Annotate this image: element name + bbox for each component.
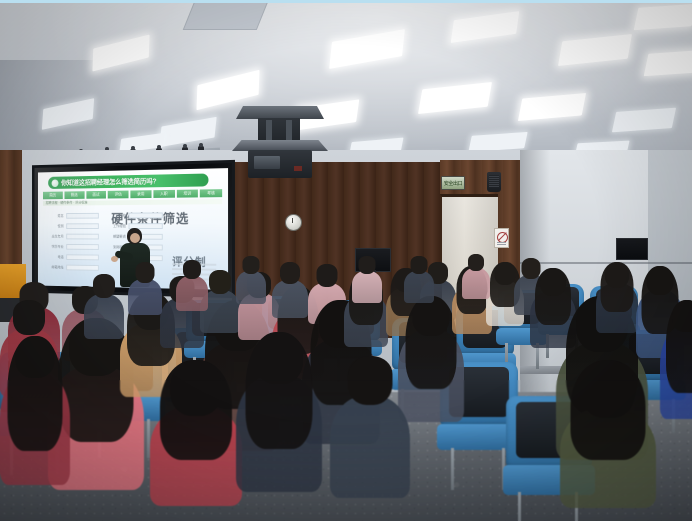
audience-head	[672, 300, 692, 332]
slide-form-row: 学历专业	[45, 244, 99, 250]
audience-torso	[176, 276, 208, 311]
slide-bullet-icon	[52, 179, 59, 187]
audience-torso	[128, 279, 162, 315]
audience-member	[560, 360, 656, 521]
slide-form-label: 邮箱地址	[45, 265, 64, 270]
audience-member	[660, 300, 692, 450]
slide-tab: 面试	[86, 191, 106, 199]
slide-tab: 培训	[176, 190, 198, 198]
audience-member	[84, 274, 124, 346]
audience-torso	[330, 396, 410, 498]
audience-member	[596, 262, 638, 342]
slide-form-row: 邮箱地址	[45, 264, 99, 270]
slide-tab: 简历	[43, 192, 63, 200]
exit-sign-label: 安全出口	[444, 180, 462, 187]
slide-form-field	[66, 234, 99, 240]
presenter-hand	[111, 256, 118, 262]
wall-speaker-icon	[487, 172, 501, 192]
audience-torso	[404, 271, 434, 303]
slide-form-field	[66, 223, 99, 229]
slide-form-row: 院校	[106, 212, 163, 218]
projector-lift-arm	[258, 118, 300, 142]
audience-head	[243, 256, 260, 274]
slide-form-field	[66, 213, 99, 219]
audience-head	[605, 262, 629, 288]
audience-member	[330, 356, 410, 521]
audience-head	[317, 264, 338, 287]
chair-leg	[451, 448, 454, 490]
slide-form-row: 姓名	[45, 213, 99, 219]
slide-form-label: 院校	[106, 213, 126, 218]
audience-member	[404, 256, 434, 308]
audience-torso	[236, 271, 266, 304]
side-monitor	[616, 238, 648, 260]
slide-form-field	[129, 212, 163, 218]
slide-tab: 筛选	[64, 191, 84, 199]
no-smoking-sign	[494, 228, 509, 248]
audience-member	[176, 260, 208, 316]
ceiling-projector	[232, 106, 328, 178]
slide-form-label: 姓名	[45, 214, 64, 219]
audience-torso	[84, 294, 124, 339]
audience-head	[13, 300, 45, 335]
slide-tab: 评估	[108, 191, 129, 199]
projector-lens-icon	[254, 156, 280, 169]
slide-banner: 你知道这招聘经理怎么筛选简历吗?	[48, 173, 208, 188]
audience-head	[280, 262, 300, 284]
slide-tab-row: 简历筛选面试评估录用入职培训考核	[43, 189, 222, 199]
slide-form-field	[66, 244, 99, 250]
projector-indicator	[294, 166, 302, 171]
audience-member	[150, 360, 242, 521]
chair-leg	[518, 492, 521, 521]
projector-body	[248, 150, 312, 178]
audience-head	[16, 336, 55, 378]
audience-member	[0, 336, 70, 521]
audience-head	[411, 256, 428, 274]
slide-form-label: 出生年月	[45, 234, 64, 239]
audience-head	[93, 274, 115, 298]
audience-head	[540, 268, 566, 296]
audience-head	[468, 254, 484, 271]
slide-tab: 录用	[130, 190, 151, 198]
audience-member	[236, 332, 322, 521]
audience-head	[170, 360, 222, 416]
audience-member	[128, 262, 162, 320]
audience-head	[255, 332, 303, 384]
audience-torso	[462, 268, 490, 299]
slide-form-label: 电话	[45, 255, 64, 260]
slide-form-row: 出生年月	[45, 234, 99, 240]
audience-head	[581, 360, 635, 418]
lecture-hall-photo: 安全出口 你知道这招聘经理怎么筛选简历吗? 简历筛选面试评估录用入职培训考核 招…	[0, 0, 692, 521]
audience-head	[209, 270, 231, 294]
exit-sign: 安全出口	[441, 176, 465, 190]
photo-top-border	[0, 0, 692, 3]
slide-form-column-left: 姓名性别出生年月学历专业电话邮箱地址	[45, 213, 99, 276]
audience-head	[183, 260, 201, 279]
audience-member	[462, 254, 490, 304]
notice-text-lines	[497, 241, 506, 245]
slide-form-label: 学历专业	[45, 244, 64, 249]
ceiling-light-panel	[634, 4, 692, 30]
audience-head	[348, 356, 393, 405]
ceiling-light-panel	[644, 50, 692, 76]
audience-member	[352, 256, 382, 308]
audience-member	[236, 256, 266, 310]
slide-form-label: 性别	[45, 224, 64, 229]
slide-form-row: 性别	[45, 223, 99, 229]
presenter-face	[130, 233, 140, 243]
audience-torso	[352, 271, 382, 303]
ac-vent	[183, 0, 272, 30]
audience-head	[136, 262, 155, 283]
slide-subtitle-note: 招聘流程 · 硬件条件 · 评分标准	[43, 201, 87, 206]
slide-tab: 考核	[200, 189, 222, 197]
slide-form-field	[66, 254, 99, 260]
slide-form-row: 电话	[45, 254, 99, 260]
audience-head	[495, 262, 516, 285]
slide-tab: 入职	[153, 190, 174, 198]
wall-clock-icon	[285, 214, 302, 231]
slide-form-field	[66, 265, 99, 271]
slide-subtitle-bar: 招聘流程 · 硬件条件 · 评分标准	[43, 199, 222, 206]
slide-banner-text: 你知道这招聘经理怎么筛选简历吗?	[61, 176, 156, 187]
audience-head	[359, 256, 376, 274]
audience-head	[647, 266, 674, 295]
